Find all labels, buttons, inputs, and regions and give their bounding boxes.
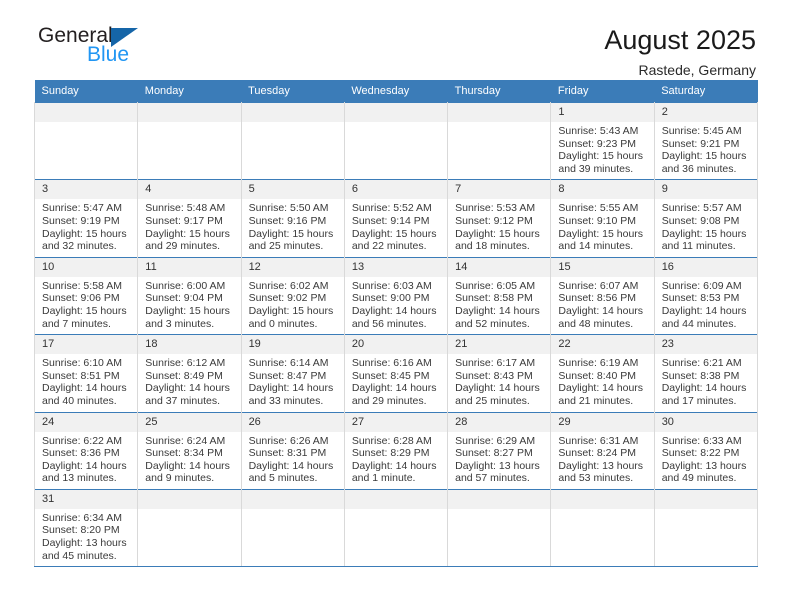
day-number bbox=[551, 490, 653, 509]
daylight-text-line2: and 0 minutes. bbox=[249, 318, 338, 331]
sunrise-text: Sunrise: 5:47 AM bbox=[42, 202, 131, 215]
calendar-day-cell[interactable]: 10Sunrise: 5:58 AMSunset: 9:06 PMDayligh… bbox=[35, 257, 138, 334]
day-number: 2 bbox=[655, 103, 757, 122]
daylight-text-line2: and 17 minutes. bbox=[662, 395, 751, 408]
day-number: 28 bbox=[448, 413, 550, 432]
sunset-text: Sunset: 9:00 PM bbox=[352, 292, 441, 305]
general-blue-logo[interactable]: General Blue bbox=[34, 24, 194, 72]
sunset-text: Sunset: 8:53 PM bbox=[662, 292, 751, 305]
day-details: Sunrise: 6:05 AMSunset: 8:58 PMDaylight:… bbox=[448, 277, 550, 334]
day-details: Sunrise: 5:47 AMSunset: 9:19 PMDaylight:… bbox=[35, 199, 137, 256]
sunrise-text: Sunrise: 5:52 AM bbox=[352, 202, 441, 215]
daylight-text-line1: Daylight: 14 hours bbox=[249, 460, 338, 473]
calendar-day-cell[interactable]: 22Sunrise: 6:19 AMSunset: 8:40 PMDayligh… bbox=[551, 335, 654, 412]
calendar-day-cell[interactable]: 16Sunrise: 6:09 AMSunset: 8:53 PMDayligh… bbox=[654, 257, 757, 334]
calendar-page: General Blue August 2025 Rastede, German… bbox=[0, 0, 792, 612]
day-details: Sunrise: 6:19 AMSunset: 8:40 PMDaylight:… bbox=[551, 354, 653, 411]
daylight-text-line1: Daylight: 14 hours bbox=[558, 382, 647, 395]
sunrise-text: Sunrise: 6:34 AM bbox=[42, 512, 131, 525]
day-number: 7 bbox=[448, 180, 550, 199]
day-details: Sunrise: 5:45 AMSunset: 9:21 PMDaylight:… bbox=[655, 122, 757, 179]
sunset-text: Sunset: 9:16 PM bbox=[249, 215, 338, 228]
daylight-text-line2: and 53 minutes. bbox=[558, 472, 647, 485]
calendar-day-cell[interactable]: 14Sunrise: 6:05 AMSunset: 8:58 PMDayligh… bbox=[448, 257, 551, 334]
daylight-text-line1: Daylight: 15 hours bbox=[42, 305, 131, 318]
sunset-text: Sunset: 8:31 PM bbox=[249, 447, 338, 460]
day-number bbox=[35, 103, 137, 122]
calendar-day-cell[interactable]: 30Sunrise: 6:33 AMSunset: 8:22 PMDayligh… bbox=[654, 412, 757, 489]
day-number: 3 bbox=[35, 180, 137, 199]
calendar-week-row: 17Sunrise: 6:10 AMSunset: 8:51 PMDayligh… bbox=[35, 335, 758, 412]
sunrise-text: Sunrise: 6:22 AM bbox=[42, 435, 131, 448]
daylight-text-line1: Daylight: 13 hours bbox=[455, 460, 544, 473]
sunset-text: Sunset: 8:38 PM bbox=[662, 370, 751, 383]
day-number: 8 bbox=[551, 180, 653, 199]
calendar-day-cell[interactable]: 13Sunrise: 6:03 AMSunset: 9:00 PMDayligh… bbox=[344, 257, 447, 334]
sunrise-text: Sunrise: 6:31 AM bbox=[558, 435, 647, 448]
sunrise-text: Sunrise: 6:17 AM bbox=[455, 357, 544, 370]
daylight-text-line1: Daylight: 15 hours bbox=[42, 228, 131, 241]
daylight-text-line1: Daylight: 15 hours bbox=[249, 305, 338, 318]
calendar-week-row: 31Sunrise: 6:34 AMSunset: 8:20 PMDayligh… bbox=[35, 489, 758, 566]
day-number: 29 bbox=[551, 413, 653, 432]
sunset-text: Sunset: 9:17 PM bbox=[145, 215, 234, 228]
day-details: Sunrise: 5:57 AMSunset: 9:08 PMDaylight:… bbox=[655, 199, 757, 256]
sunrise-text: Sunrise: 6:29 AM bbox=[455, 435, 544, 448]
day-number: 19 bbox=[242, 335, 344, 354]
sunset-text: Sunset: 9:12 PM bbox=[455, 215, 544, 228]
sunrise-text: Sunrise: 6:02 AM bbox=[249, 280, 338, 293]
day-details: Sunrise: 6:26 AMSunset: 8:31 PMDaylight:… bbox=[242, 432, 344, 489]
sunrise-text: Sunrise: 6:14 AM bbox=[249, 357, 338, 370]
weekday-header-tuesday: Tuesday bbox=[241, 80, 344, 103]
calendar-cell-empty bbox=[344, 489, 447, 566]
sunset-text: Sunset: 8:24 PM bbox=[558, 447, 647, 460]
sunset-text: Sunset: 9:10 PM bbox=[558, 215, 647, 228]
sunset-text: Sunset: 9:06 PM bbox=[42, 292, 131, 305]
day-number: 16 bbox=[655, 258, 757, 277]
day-number: 27 bbox=[345, 413, 447, 432]
day-details: Sunrise: 6:14 AMSunset: 8:47 PMDaylight:… bbox=[242, 354, 344, 411]
sunrise-text: Sunrise: 5:53 AM bbox=[455, 202, 544, 215]
calendar-day-cell[interactable]: 7Sunrise: 5:53 AMSunset: 9:12 PMDaylight… bbox=[448, 180, 551, 257]
sunset-text: Sunset: 8:34 PM bbox=[145, 447, 234, 460]
calendar-day-cell[interactable]: 15Sunrise: 6:07 AMSunset: 8:56 PMDayligh… bbox=[551, 257, 654, 334]
daylight-text-line2: and 5 minutes. bbox=[249, 472, 338, 485]
day-number bbox=[242, 103, 344, 122]
calendar-day-cell[interactable]: 1Sunrise: 5:43 AMSunset: 9:23 PMDaylight… bbox=[551, 103, 654, 180]
daylight-text-line2: and 25 minutes. bbox=[455, 395, 544, 408]
sunrise-text: Sunrise: 5:43 AM bbox=[558, 125, 647, 138]
daylight-text-line1: Daylight: 14 hours bbox=[145, 460, 234, 473]
sunrise-text: Sunrise: 6:28 AM bbox=[352, 435, 441, 448]
daylight-text-line1: Daylight: 14 hours bbox=[352, 305, 441, 318]
day-number: 31 bbox=[35, 490, 137, 509]
day-number: 4 bbox=[138, 180, 240, 199]
daylight-text-line2: and 13 minutes. bbox=[42, 472, 131, 485]
day-details: Sunrise: 5:53 AMSunset: 9:12 PMDaylight:… bbox=[448, 199, 550, 256]
day-number: 11 bbox=[138, 258, 240, 277]
daylight-text-line2: and 56 minutes. bbox=[352, 318, 441, 331]
sunrise-text: Sunrise: 6:05 AM bbox=[455, 280, 544, 293]
sunrise-text: Sunrise: 6:24 AM bbox=[145, 435, 234, 448]
calendar-day-cell[interactable]: 28Sunrise: 6:29 AMSunset: 8:27 PMDayligh… bbox=[448, 412, 551, 489]
daylight-text-line1: Daylight: 15 hours bbox=[662, 228, 751, 241]
calendar-day-cell[interactable]: 8Sunrise: 5:55 AMSunset: 9:10 PMDaylight… bbox=[551, 180, 654, 257]
daylight-text-line2: and 40 minutes. bbox=[42, 395, 131, 408]
day-details: Sunrise: 6:33 AMSunset: 8:22 PMDaylight:… bbox=[655, 432, 757, 489]
day-number bbox=[138, 103, 240, 122]
calendar-table: Sunday Monday Tuesday Wednesday Thursday… bbox=[34, 80, 758, 567]
daylight-text-line1: Daylight: 14 hours bbox=[455, 305, 544, 318]
sunrise-text: Sunrise: 6:26 AM bbox=[249, 435, 338, 448]
day-number bbox=[345, 490, 447, 509]
sunrise-text: Sunrise: 5:50 AM bbox=[249, 202, 338, 215]
daylight-text-line2: and 32 minutes. bbox=[42, 240, 131, 253]
day-details: Sunrise: 5:48 AMSunset: 9:17 PMDaylight:… bbox=[138, 199, 240, 256]
daylight-text-line2: and 21 minutes. bbox=[558, 395, 647, 408]
day-details: Sunrise: 6:17 AMSunset: 8:43 PMDaylight:… bbox=[448, 354, 550, 411]
day-number: 24 bbox=[35, 413, 137, 432]
calendar-day-cell[interactable]: 23Sunrise: 6:21 AMSunset: 8:38 PMDayligh… bbox=[654, 335, 757, 412]
daylight-text-line1: Daylight: 14 hours bbox=[352, 460, 441, 473]
daylight-text-line1: Daylight: 14 hours bbox=[455, 382, 544, 395]
sunset-text: Sunset: 8:40 PM bbox=[558, 370, 647, 383]
calendar-cell-empty bbox=[241, 103, 344, 180]
day-number bbox=[448, 103, 550, 122]
day-number: 14 bbox=[448, 258, 550, 277]
daylight-text-line1: Daylight: 14 hours bbox=[145, 382, 234, 395]
daylight-text-line1: Daylight: 15 hours bbox=[662, 150, 751, 163]
day-details: Sunrise: 6:34 AMSunset: 8:20 PMDaylight:… bbox=[35, 509, 137, 566]
calendar-day-cell[interactable]: 21Sunrise: 6:17 AMSunset: 8:43 PMDayligh… bbox=[448, 335, 551, 412]
day-details: Sunrise: 5:58 AMSunset: 9:06 PMDaylight:… bbox=[35, 277, 137, 334]
sunrise-text: Sunrise: 6:19 AM bbox=[558, 357, 647, 370]
calendar-day-cell[interactable]: 9Sunrise: 5:57 AMSunset: 9:08 PMDaylight… bbox=[654, 180, 757, 257]
sunset-text: Sunset: 8:51 PM bbox=[42, 370, 131, 383]
calendar-cell-empty bbox=[551, 489, 654, 566]
daylight-text-line1: Daylight: 14 hours bbox=[662, 305, 751, 318]
sunrise-text: Sunrise: 6:33 AM bbox=[662, 435, 751, 448]
sunset-text: Sunset: 9:23 PM bbox=[558, 138, 647, 151]
daylight-text-line1: Daylight: 14 hours bbox=[558, 305, 647, 318]
sunset-text: Sunset: 9:14 PM bbox=[352, 215, 441, 228]
weekday-header-sunday: Sunday bbox=[35, 80, 138, 103]
daylight-text-line1: Daylight: 15 hours bbox=[249, 228, 338, 241]
day-number: 20 bbox=[345, 335, 447, 354]
title-block: August 2025 Rastede, Germany bbox=[604, 24, 758, 80]
daylight-text-line2: and 44 minutes. bbox=[662, 318, 751, 331]
daylight-text-line2: and 52 minutes. bbox=[455, 318, 544, 331]
daylight-text-line2: and 45 minutes. bbox=[42, 550, 131, 563]
daylight-text-line2: and 14 minutes. bbox=[558, 240, 647, 253]
day-number: 9 bbox=[655, 180, 757, 199]
daylight-text-line1: Daylight: 14 hours bbox=[42, 382, 131, 395]
day-details: Sunrise: 6:10 AMSunset: 8:51 PMDaylight:… bbox=[35, 354, 137, 411]
calendar-day-cell[interactable]: 2Sunrise: 5:45 AMSunset: 9:21 PMDaylight… bbox=[654, 103, 757, 180]
sunset-text: Sunset: 9:04 PM bbox=[145, 292, 234, 305]
day-details: Sunrise: 6:12 AMSunset: 8:49 PMDaylight:… bbox=[138, 354, 240, 411]
day-details: Sunrise: 6:28 AMSunset: 8:29 PMDaylight:… bbox=[345, 432, 447, 489]
sunset-text: Sunset: 9:08 PM bbox=[662, 215, 751, 228]
daylight-text-line2: and 22 minutes. bbox=[352, 240, 441, 253]
sunset-text: Sunset: 8:58 PM bbox=[455, 292, 544, 305]
calendar-day-cell[interactable]: 3Sunrise: 5:47 AMSunset: 9:19 PMDaylight… bbox=[35, 180, 138, 257]
day-details: Sunrise: 6:03 AMSunset: 9:00 PMDaylight:… bbox=[345, 277, 447, 334]
day-number: 18 bbox=[138, 335, 240, 354]
sunrise-text: Sunrise: 5:45 AM bbox=[662, 125, 751, 138]
day-number: 13 bbox=[345, 258, 447, 277]
day-number: 12 bbox=[242, 258, 344, 277]
sunset-text: Sunset: 8:43 PM bbox=[455, 370, 544, 383]
sunrise-text: Sunrise: 5:48 AM bbox=[145, 202, 234, 215]
day-number: 17 bbox=[35, 335, 137, 354]
daylight-text-line1: Daylight: 14 hours bbox=[662, 382, 751, 395]
calendar-cell-empty bbox=[654, 489, 757, 566]
calendar-week-row: 24Sunrise: 6:22 AMSunset: 8:36 PMDayligh… bbox=[35, 412, 758, 489]
daylight-text-line1: Daylight: 13 hours bbox=[662, 460, 751, 473]
sunrise-text: Sunrise: 6:00 AM bbox=[145, 280, 234, 293]
day-number bbox=[345, 103, 447, 122]
calendar-day-cell[interactable]: 31Sunrise: 6:34 AMSunset: 8:20 PMDayligh… bbox=[35, 489, 138, 566]
logo-text-blue: Blue bbox=[87, 43, 129, 67]
day-details: Sunrise: 6:29 AMSunset: 8:27 PMDaylight:… bbox=[448, 432, 550, 489]
weekday-header-wednesday: Wednesday bbox=[344, 80, 447, 103]
daylight-text-line2: and 33 minutes. bbox=[249, 395, 338, 408]
day-number: 23 bbox=[655, 335, 757, 354]
page-subtitle: Rastede, Germany bbox=[604, 60, 756, 80]
daylight-text-line2: and 49 minutes. bbox=[662, 472, 751, 485]
sunset-text: Sunset: 8:27 PM bbox=[455, 447, 544, 460]
day-number: 25 bbox=[138, 413, 240, 432]
day-details: Sunrise: 5:43 AMSunset: 9:23 PMDaylight:… bbox=[551, 122, 653, 179]
day-details: Sunrise: 6:21 AMSunset: 8:38 PMDaylight:… bbox=[655, 354, 757, 411]
sunrise-text: Sunrise: 5:55 AM bbox=[558, 202, 647, 215]
sunset-text: Sunset: 9:21 PM bbox=[662, 138, 751, 151]
daylight-text-line2: and 48 minutes. bbox=[558, 318, 647, 331]
calendar-day-cell[interactable]: 26Sunrise: 6:26 AMSunset: 8:31 PMDayligh… bbox=[241, 412, 344, 489]
sunset-text: Sunset: 8:45 PM bbox=[352, 370, 441, 383]
day-number: 6 bbox=[345, 180, 447, 199]
daylight-text-line2: and 25 minutes. bbox=[249, 240, 338, 253]
calendar-week-row: 1Sunrise: 5:43 AMSunset: 9:23 PMDaylight… bbox=[35, 103, 758, 180]
sunset-text: Sunset: 9:19 PM bbox=[42, 215, 131, 228]
day-number: 22 bbox=[551, 335, 653, 354]
day-details: Sunrise: 6:22 AMSunset: 8:36 PMDaylight:… bbox=[35, 432, 137, 489]
calendar-day-cell[interactable]: 4Sunrise: 5:48 AMSunset: 9:17 PMDaylight… bbox=[138, 180, 241, 257]
day-details: Sunrise: 6:16 AMSunset: 8:45 PMDaylight:… bbox=[345, 354, 447, 411]
day-number bbox=[138, 490, 240, 509]
calendar-day-cell[interactable]: 5Sunrise: 5:50 AMSunset: 9:16 PMDaylight… bbox=[241, 180, 344, 257]
daylight-text-line1: Daylight: 14 hours bbox=[42, 460, 131, 473]
day-number: 1 bbox=[551, 103, 653, 122]
daylight-text-line1: Daylight: 13 hours bbox=[42, 537, 131, 550]
calendar-day-cell[interactable]: 17Sunrise: 6:10 AMSunset: 8:51 PMDayligh… bbox=[35, 335, 138, 412]
daylight-text-line2: and 57 minutes. bbox=[455, 472, 544, 485]
daylight-text-line2: and 7 minutes. bbox=[42, 318, 131, 331]
day-details: Sunrise: 5:52 AMSunset: 9:14 PMDaylight:… bbox=[345, 199, 447, 256]
calendar-day-cell[interactable]: 12Sunrise: 6:02 AMSunset: 9:02 PMDayligh… bbox=[241, 257, 344, 334]
daylight-text-line1: Daylight: 15 hours bbox=[455, 228, 544, 241]
weekday-header-saturday: Saturday bbox=[654, 80, 757, 103]
daylight-text-line1: Daylight: 15 hours bbox=[558, 150, 647, 163]
calendar-day-cell[interactable]: 29Sunrise: 6:31 AMSunset: 8:24 PMDayligh… bbox=[551, 412, 654, 489]
sunrise-text: Sunrise: 6:12 AM bbox=[145, 357, 234, 370]
calendar-cell-empty bbox=[35, 103, 138, 180]
day-number: 26 bbox=[242, 413, 344, 432]
sunset-text: Sunset: 8:22 PM bbox=[662, 447, 751, 460]
calendar-day-cell[interactable]: 27Sunrise: 6:28 AMSunset: 8:29 PMDayligh… bbox=[344, 412, 447, 489]
sunrise-text: Sunrise: 6:09 AM bbox=[662, 280, 751, 293]
daylight-text-line2: and 36 minutes. bbox=[662, 163, 751, 176]
sunset-text: Sunset: 8:49 PM bbox=[145, 370, 234, 383]
daylight-text-line2: and 37 minutes. bbox=[145, 395, 234, 408]
daylight-text-line2: and 18 minutes. bbox=[455, 240, 544, 253]
day-details: Sunrise: 6:31 AMSunset: 8:24 PMDaylight:… bbox=[551, 432, 653, 489]
day-details: Sunrise: 6:00 AMSunset: 9:04 PMDaylight:… bbox=[138, 277, 240, 334]
calendar-day-cell[interactable]: 11Sunrise: 6:00 AMSunset: 9:04 PMDayligh… bbox=[138, 257, 241, 334]
day-details: Sunrise: 5:50 AMSunset: 9:16 PMDaylight:… bbox=[242, 199, 344, 256]
daylight-text-line1: Daylight: 15 hours bbox=[145, 305, 234, 318]
weekday-header-monday: Monday bbox=[138, 80, 241, 103]
calendar-day-cell[interactable]: 18Sunrise: 6:12 AMSunset: 8:49 PMDayligh… bbox=[138, 335, 241, 412]
calendar-cell-empty bbox=[138, 103, 241, 180]
sunrise-text: Sunrise: 5:57 AM bbox=[662, 202, 751, 215]
calendar-cell-empty bbox=[138, 489, 241, 566]
calendar-cell-empty bbox=[241, 489, 344, 566]
daylight-text-line1: Daylight: 14 hours bbox=[249, 382, 338, 395]
calendar-day-cell[interactable]: 6Sunrise: 5:52 AMSunset: 9:14 PMDaylight… bbox=[344, 180, 447, 257]
sunset-text: Sunset: 9:02 PM bbox=[249, 292, 338, 305]
daylight-text-line2: and 39 minutes. bbox=[558, 163, 647, 176]
daylight-text-line1: Daylight: 14 hours bbox=[352, 382, 441, 395]
daylight-text-line2: and 11 minutes. bbox=[662, 240, 751, 253]
sunrise-text: Sunrise: 6:03 AM bbox=[352, 280, 441, 293]
calendar-cell-empty bbox=[344, 103, 447, 180]
calendar-cell-empty bbox=[448, 489, 551, 566]
weekday-header-thursday: Thursday bbox=[448, 80, 551, 103]
day-number: 10 bbox=[35, 258, 137, 277]
sunset-text: Sunset: 8:47 PM bbox=[249, 370, 338, 383]
calendar-body: 1Sunrise: 5:43 AMSunset: 9:23 PMDaylight… bbox=[35, 103, 758, 567]
sunrise-text: Sunrise: 6:21 AM bbox=[662, 357, 751, 370]
sunrise-text: Sunrise: 6:10 AM bbox=[42, 357, 131, 370]
calendar-header-row: Sunday Monday Tuesday Wednesday Thursday… bbox=[35, 80, 758, 103]
calendar-cell-empty bbox=[448, 103, 551, 180]
day-details: Sunrise: 5:55 AMSunset: 9:10 PMDaylight:… bbox=[551, 199, 653, 256]
daylight-text-line2: and 3 minutes. bbox=[145, 318, 234, 331]
calendar-day-cell[interactable]: 25Sunrise: 6:24 AMSunset: 8:34 PMDayligh… bbox=[138, 412, 241, 489]
calendar-day-cell[interactable]: 20Sunrise: 6:16 AMSunset: 8:45 PMDayligh… bbox=[344, 335, 447, 412]
page-header: General Blue August 2025 Rastede, German… bbox=[34, 0, 758, 72]
day-number: 30 bbox=[655, 413, 757, 432]
weekday-header-friday: Friday bbox=[551, 80, 654, 103]
day-number bbox=[448, 490, 550, 509]
day-number bbox=[655, 490, 757, 509]
day-number: 15 bbox=[551, 258, 653, 277]
daylight-text-line1: Daylight: 15 hours bbox=[352, 228, 441, 241]
daylight-text-line2: and 29 minutes. bbox=[352, 395, 441, 408]
day-details: Sunrise: 6:09 AMSunset: 8:53 PMDaylight:… bbox=[655, 277, 757, 334]
daylight-text-line1: Daylight: 15 hours bbox=[558, 228, 647, 241]
day-number: 21 bbox=[448, 335, 550, 354]
day-details: Sunrise: 6:02 AMSunset: 9:02 PMDaylight:… bbox=[242, 277, 344, 334]
daylight-text-line2: and 1 minute. bbox=[352, 472, 441, 485]
page-title: August 2025 bbox=[604, 24, 756, 56]
day-number: 5 bbox=[242, 180, 344, 199]
sunrise-text: Sunrise: 5:58 AM bbox=[42, 280, 131, 293]
calendar-day-cell[interactable]: 19Sunrise: 6:14 AMSunset: 8:47 PMDayligh… bbox=[241, 335, 344, 412]
sunset-text: Sunset: 8:29 PM bbox=[352, 447, 441, 460]
sunrise-text: Sunrise: 6:16 AM bbox=[352, 357, 441, 370]
sunset-text: Sunset: 8:56 PM bbox=[558, 292, 647, 305]
sunset-text: Sunset: 8:20 PM bbox=[42, 524, 131, 537]
calendar-week-row: 3Sunrise: 5:47 AMSunset: 9:19 PMDaylight… bbox=[35, 180, 758, 257]
day-details: Sunrise: 6:07 AMSunset: 8:56 PMDaylight:… bbox=[551, 277, 653, 334]
calendar-week-row: 10Sunrise: 5:58 AMSunset: 9:06 PMDayligh… bbox=[35, 257, 758, 334]
calendar-day-cell[interactable]: 24Sunrise: 6:22 AMSunset: 8:36 PMDayligh… bbox=[35, 412, 138, 489]
sunset-text: Sunset: 8:36 PM bbox=[42, 447, 131, 460]
day-number bbox=[242, 490, 344, 509]
daylight-text-line2: and 9 minutes. bbox=[145, 472, 234, 485]
daylight-text-line1: Daylight: 15 hours bbox=[145, 228, 234, 241]
daylight-text-line2: and 29 minutes. bbox=[145, 240, 234, 253]
day-details: Sunrise: 6:24 AMSunset: 8:34 PMDaylight:… bbox=[138, 432, 240, 489]
daylight-text-line1: Daylight: 13 hours bbox=[558, 460, 647, 473]
sunrise-text: Sunrise: 6:07 AM bbox=[558, 280, 647, 293]
